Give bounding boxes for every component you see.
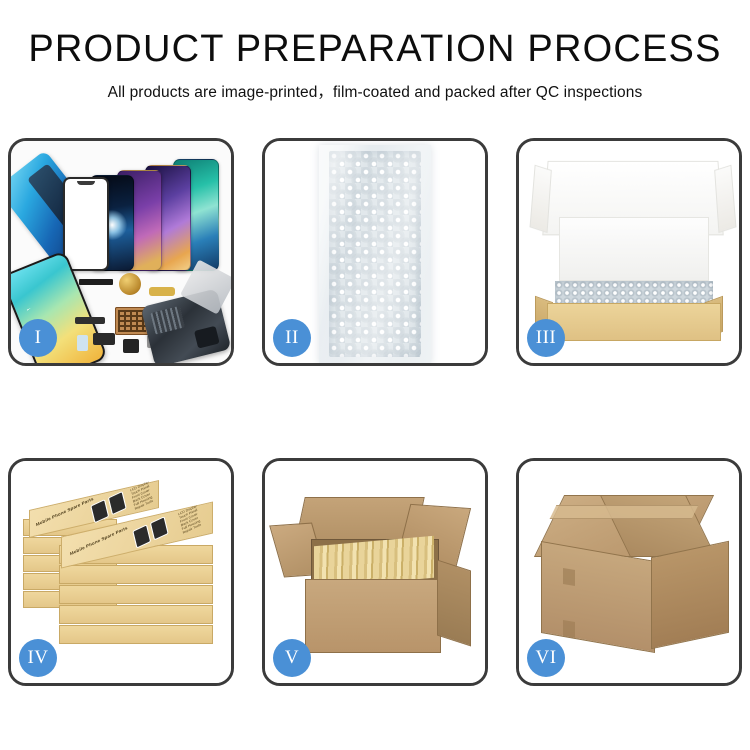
retail-box-edge <box>59 585 213 604</box>
step-numeral: VI <box>535 647 556 669</box>
page-title: PRODUCT PREPARATION PROCESS <box>0 30 750 70</box>
step-panel-4: Mobile Phone Spare Parts LCD Display Tou… <box>8 458 234 686</box>
step-numeral: V <box>285 647 299 669</box>
step-numeral: I <box>35 327 42 349</box>
retail-box-label: Mobile Phone Spare Parts <box>35 496 94 527</box>
step-badge-6: VI <box>527 639 565 677</box>
retail-box-checklist: LCD Display Touch Panel Front Cover Back… <box>178 505 202 535</box>
notch-icon <box>77 181 95 185</box>
screen-thumb-icon <box>150 516 169 540</box>
carton-front-icon <box>305 579 441 653</box>
phone-glass-icon <box>63 177 109 271</box>
carton-handle-slot-icon <box>563 568 575 586</box>
packing-tape-icon <box>550 505 699 519</box>
retail-box-edge <box>59 565 213 584</box>
retail-box-screen-graphic <box>90 491 126 523</box>
step-numeral: III <box>536 327 556 349</box>
step-badge-2: II <box>273 319 311 357</box>
connector-icon <box>93 333 115 345</box>
flex-cable-icon <box>75 317 105 324</box>
step-badge-1: I <box>19 319 57 357</box>
box-stack: Mobile Phone Spare Parts LCD Display Tou… <box>23 481 223 671</box>
page-subtitle: All products are image-printed，film-coat… <box>0 80 750 102</box>
foam-sheet-icon <box>559 217 709 281</box>
camera-module-icon <box>123 339 139 353</box>
retail-box-edge <box>59 625 213 644</box>
retail-box-edge <box>59 605 213 624</box>
step-numeral: II <box>285 327 299 349</box>
product-preparation-infographic: PRODUCT PREPARATION PROCESS All products… <box>0 0 750 750</box>
retail-box-checklist: LCD Display Touch Panel Front Cover Back… <box>130 481 154 511</box>
carton-front-icon <box>541 541 655 653</box>
screen-thumb-icon <box>132 524 151 548</box>
step-badge-3: III <box>527 319 565 357</box>
step-panel-5: V <box>262 458 488 686</box>
step-panel-1: I <box>8 138 234 366</box>
carton-handle-slot-icon <box>563 620 575 638</box>
sim-tray-icon <box>77 335 88 351</box>
bubble-wrap-icon <box>555 281 713 305</box>
step-numeral: IV <box>27 647 48 669</box>
step-panel-3: III <box>516 138 742 366</box>
step-badge-5: V <box>273 639 311 677</box>
retail-box-screen-graphic <box>132 516 168 548</box>
speaker-coil-icon <box>119 273 141 295</box>
process-step-grid: I II III <box>8 138 742 686</box>
carton-side-icon <box>437 559 471 646</box>
speaker-mesh-icon <box>79 279 113 285</box>
box-front-icon <box>547 303 721 341</box>
step-panel-6: VI <box>516 458 742 686</box>
plastic-gloss-icon <box>319 145 431 363</box>
phone-screen-fan <box>57 151 227 271</box>
flex-cable-icon <box>149 287 175 296</box>
step-badge-4: IV <box>19 639 57 677</box>
carton-side-icon <box>651 541 729 650</box>
header: PRODUCT PREPARATION PROCESS All products… <box>0 0 750 102</box>
screen-thumb-icon <box>90 499 109 523</box>
step-panel-2: II <box>262 138 488 366</box>
screen-thumb-icon <box>108 491 127 515</box>
